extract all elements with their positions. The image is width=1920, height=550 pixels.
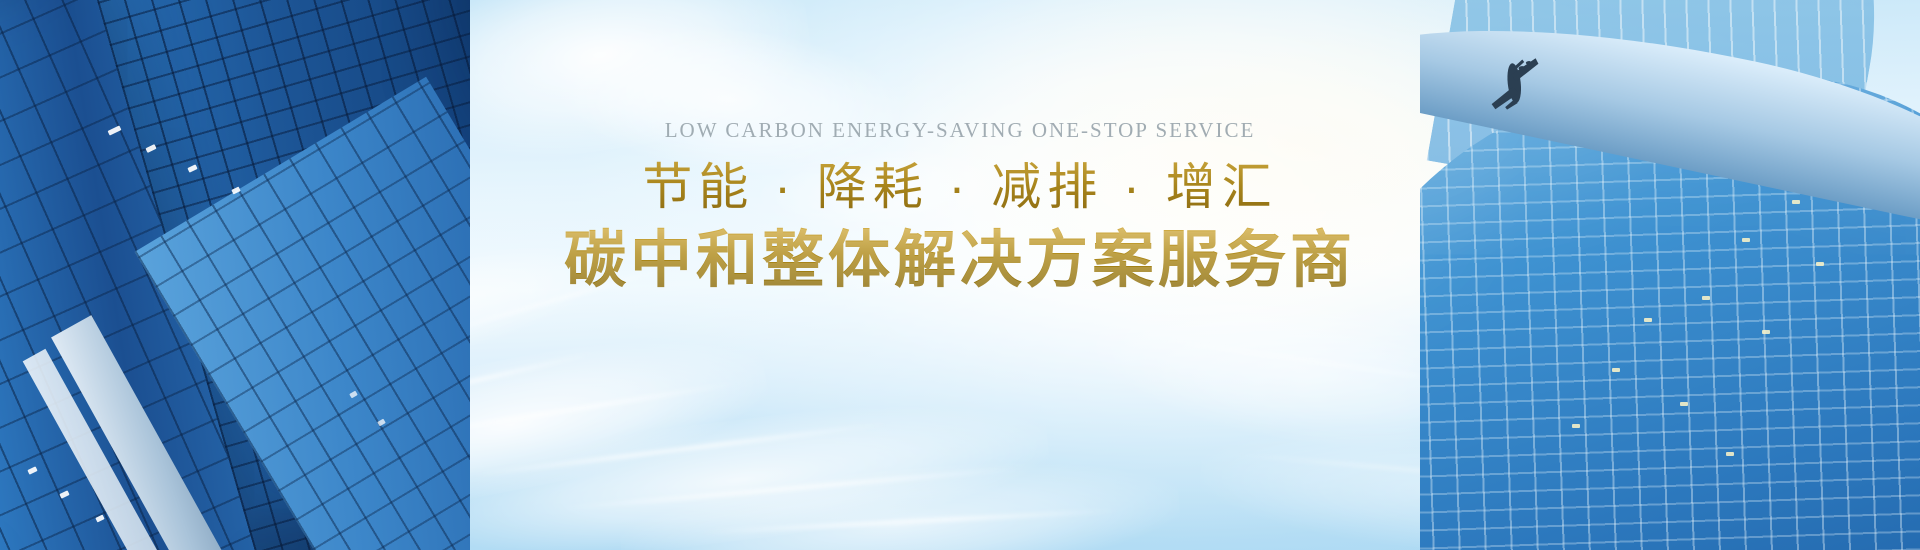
banner-copy: LOW CARBON ENERGY-SAVING ONE-STOP SERVIC…	[0, 118, 1920, 295]
banner-eyebrow-text: LOW CARBON ENERGY-SAVING ONE-STOP SERVIC…	[0, 118, 1920, 143]
banner-headline-secondary: 碳中和整体解决方案服务商	[0, 227, 1920, 295]
hero-banner: LOW CARBON ENERGY-SAVING ONE-STOP SERVIC…	[0, 0, 1920, 550]
banner-headline-primary: 节能 · 降耗 · 减排 · 增汇	[0, 159, 1920, 215]
